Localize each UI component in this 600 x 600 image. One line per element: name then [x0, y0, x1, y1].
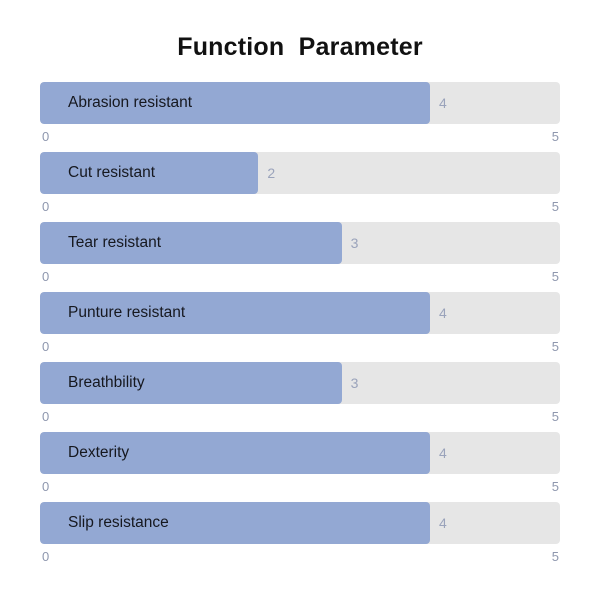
bar-track[interactable]: Punture resistant4	[40, 292, 560, 334]
bar-label: Abrasion resistant	[68, 82, 192, 124]
bar-row-list: Abrasion resistant405Cut resistant205Tea…	[0, 82, 600, 572]
axis-ticks: 05	[40, 547, 560, 567]
bar-value: 3	[342, 222, 359, 264]
bar-value: 4	[430, 82, 447, 124]
axis-ticks: 05	[40, 337, 560, 357]
bar-track[interactable]: Abrasion resistant4	[40, 82, 560, 124]
axis-tick-min: 0	[42, 407, 49, 427]
bar-track[interactable]: Tear resistant3	[40, 222, 560, 264]
bar-value: 3	[342, 362, 359, 404]
axis-tick-min: 0	[42, 197, 49, 217]
bar-track[interactable]: Dexterity4	[40, 432, 560, 474]
axis-ticks: 05	[40, 127, 560, 147]
bar-value: 4	[430, 292, 447, 334]
axis-tick-min: 0	[42, 127, 49, 147]
axis-tick-min: 0	[42, 547, 49, 567]
bar-row: Slip resistance405	[40, 502, 560, 572]
axis-tick-max: 5	[552, 267, 559, 287]
axis-tick-min: 0	[42, 267, 49, 287]
axis-tick-max: 5	[552, 127, 559, 147]
bar-row: Dexterity405	[40, 432, 560, 502]
chart-title: Function Parameter	[0, 0, 600, 62]
axis-tick-max: 5	[552, 337, 559, 357]
bar-label: Dexterity	[68, 432, 129, 474]
bar-label: Slip resistance	[68, 502, 169, 544]
axis-ticks: 05	[40, 407, 560, 427]
axis-tick-max: 5	[552, 477, 559, 497]
axis-tick-min: 0	[42, 337, 49, 357]
bar-row: Breathbility305	[40, 362, 560, 432]
bar-track[interactable]: Breathbility3	[40, 362, 560, 404]
axis-tick-max: 5	[552, 407, 559, 427]
axis-ticks: 05	[40, 197, 560, 217]
bar-value: 2	[258, 152, 275, 194]
bar-value: 4	[430, 432, 447, 474]
axis-tick-max: 5	[552, 197, 559, 217]
bar-label: Punture resistant	[68, 292, 185, 334]
bar-label: Breathbility	[68, 362, 145, 404]
axis-tick-min: 0	[42, 477, 49, 497]
axis-ticks: 05	[40, 477, 560, 497]
bar-value: 4	[430, 502, 447, 544]
bar-track[interactable]: Cut resistant2	[40, 152, 560, 194]
bar-row: Cut resistant205	[40, 152, 560, 222]
bar-track[interactable]: Slip resistance4	[40, 502, 560, 544]
bar-row: Abrasion resistant405	[40, 82, 560, 152]
bar-row: Punture resistant405	[40, 292, 560, 362]
bar-label: Cut resistant	[68, 152, 155, 194]
function-parameter-chart: Function Parameter Abrasion resistant405…	[0, 0, 600, 600]
axis-ticks: 05	[40, 267, 560, 287]
bar-label: Tear resistant	[68, 222, 161, 264]
axis-tick-max: 5	[552, 547, 559, 567]
bar-row: Tear resistant305	[40, 222, 560, 292]
